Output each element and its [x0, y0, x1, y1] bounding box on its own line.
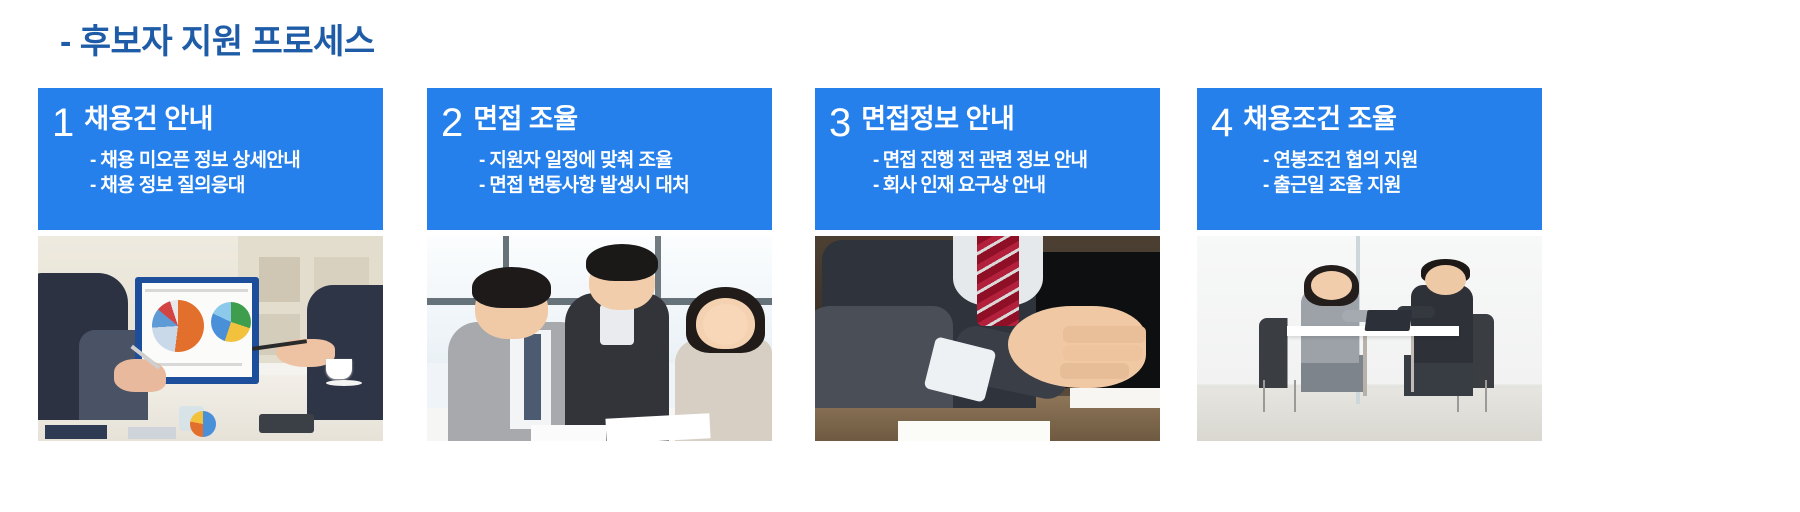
- striped-necktie: [977, 236, 1018, 326]
- step-1-header: 1 채용건 안내 - 채용 미오픈 정보 상세안내 - 채용 정보 질의응대: [38, 88, 383, 230]
- document-sheet: [606, 414, 711, 441]
- document-sheet: [531, 425, 607, 441]
- step-3-number: 3: [829, 102, 851, 142]
- photo-team-discussion: [427, 236, 772, 441]
- step-4-bullet-1: - 연봉조건 협의 지원: [1263, 148, 1532, 173]
- man-suit: [1411, 285, 1473, 363]
- notebook-on-table: [45, 425, 107, 439]
- candidate-support-process-slide: - 후보자 지원 프로세스 1 채용건 안내 - 채용 미오픈 정보 상세안내 …: [0, 0, 1800, 512]
- step-3-bullet-list: - 면접 진행 전 관련 정보 안내 - 회사 인재 요구상 안내: [829, 148, 1150, 199]
- step-1-title: 채용건 안내: [84, 102, 213, 135]
- seated-man-tie: [524, 334, 541, 420]
- step-3-title: 면접정보 안내: [861, 102, 1014, 135]
- woman-face: [703, 304, 748, 345]
- step-2-header: 2 면접 조율 - 지원자 일정에 맞춰 조율 - 면접 변동사항 발생시 대처: [427, 88, 772, 230]
- step-1-bullet-list: - 채용 미오픈 정보 상세안내 - 채용 정보 질의응대: [52, 148, 373, 199]
- step-4-title: 채용조건 조율: [1243, 102, 1396, 135]
- step-3-bullet-1: - 면접 진행 전 관련 정보 안내: [873, 148, 1150, 173]
- process-step-card-2[interactable]: 2 면접 조율 - 지원자 일정에 맞춰 조율 - 면접 변동사항 발생시 대처: [427, 88, 772, 441]
- table-leg: [1411, 334, 1414, 391]
- open-notebook: [1070, 388, 1160, 409]
- pie-chart-graphic: [190, 411, 216, 437]
- step-3-header: 3 면접정보 안내 - 면접 진행 전 관련 정보 안내 - 회사 인재 요구상…: [815, 88, 1160, 230]
- finger: [1060, 363, 1129, 379]
- step-2-bullet-list: - 지원자 일정에 맞춰 조율 - 면접 변동사항 발생시 대처: [441, 148, 762, 199]
- step-4-number: 4: [1211, 102, 1233, 142]
- saucer: [326, 380, 362, 386]
- table-leg: [1363, 334, 1367, 396]
- seated-man-hair: [472, 267, 551, 308]
- process-steps-row: 1 채용건 안내 - 채용 미오픈 정보 상세안내 - 채용 정보 질의응대: [0, 88, 1800, 512]
- process-step-card-1[interactable]: 1 채용건 안내 - 채용 미오픈 정보 상세안내 - 채용 정보 질의응대: [38, 88, 383, 441]
- coffee-cup: [326, 359, 352, 379]
- step-4-bullet-list: - 연봉조건 협의 지원 - 출근일 조율 지원: [1211, 148, 1532, 199]
- pie-chart-graphic: [211, 302, 251, 342]
- step-1-bullet-2: - 채용 정보 질의응대: [90, 173, 373, 198]
- page-title: - 후보자 지원 프로세스: [60, 14, 375, 63]
- floor: [1197, 388, 1542, 441]
- photo-interview-table: [1197, 236, 1542, 441]
- smartphone-on-table: [259, 414, 314, 432]
- step-3-bullet-2: - 회사 인재 요구상 안내: [873, 173, 1150, 198]
- step-2-bullet-1: - 지원자 일정에 맞춰 조율: [479, 148, 762, 173]
- step-4-bullet-2: - 출근일 조율 지원: [1263, 173, 1532, 198]
- process-step-card-4[interactable]: 4 채용조건 조율 - 연봉조건 협의 지원 - 출근일 조율 지원: [1197, 88, 1542, 441]
- standing-man-shirt: [600, 304, 635, 345]
- document-on-desk: [898, 421, 1050, 442]
- photo-meeting-chart-presentation: [38, 236, 383, 441]
- step-1-bullet-1: - 채용 미오픈 정보 상세안내: [90, 148, 373, 173]
- chair-leg: [1294, 380, 1296, 413]
- woman-head: [1311, 271, 1352, 300]
- pie-chart-graphic: [152, 300, 204, 352]
- finger: [1063, 345, 1142, 361]
- standing-man-hair: [586, 244, 658, 281]
- tablet-on-table: [128, 427, 176, 439]
- step-2-bullet-2: - 면접 변동사항 발생시 대처: [479, 173, 762, 198]
- step-1-number: 1: [52, 102, 74, 142]
- step-2-number: 2: [441, 102, 463, 142]
- photo-handshake-offer: [815, 236, 1160, 441]
- shelf-compartment: [259, 257, 300, 302]
- chair-leg: [1485, 380, 1487, 413]
- process-step-card-3[interactable]: 3 면접정보 안내 - 면접 진행 전 관련 정보 안내 - 회사 인재 요구상…: [815, 88, 1160, 441]
- report-text-line: [207, 289, 248, 292]
- step-2-title: 면접 조율: [473, 102, 577, 135]
- chair-leg: [1263, 380, 1265, 413]
- laptop-on-table: [1365, 310, 1413, 331]
- finger: [1063, 326, 1146, 342]
- report-text-line: [145, 289, 207, 292]
- step-4-header: 4 채용조건 조율 - 연봉조건 협의 지원 - 출근일 조율 지원: [1197, 88, 1542, 230]
